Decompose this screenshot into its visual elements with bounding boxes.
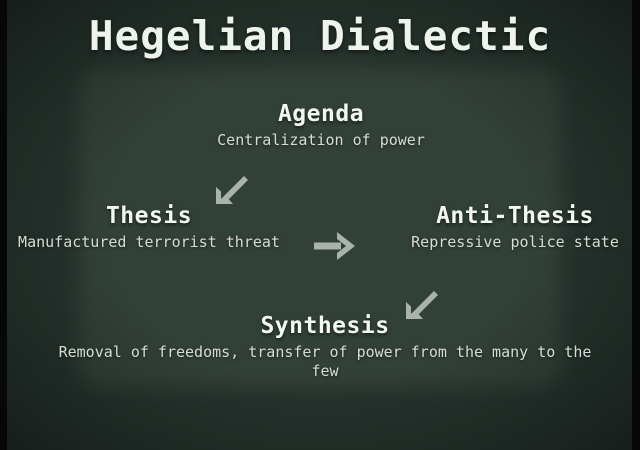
node-synthesis-heading: Synthesis (55, 314, 595, 340)
node-agenda: Agenda Centralization of power (178, 102, 464, 150)
node-antithesis-description: Repressive police state (390, 233, 640, 252)
arrow-down-left-icon-2 (400, 285, 440, 325)
arrow-down-left-icon (210, 170, 250, 210)
arrow-right-icon (312, 229, 358, 263)
node-antithesis-heading: Anti-Thesis (390, 204, 640, 230)
node-agenda-heading: Agenda (178, 102, 464, 128)
node-thesis-heading: Thesis (4, 204, 294, 230)
node-agenda-description: Centralization of power (178, 131, 464, 150)
slide-canvas: Hegelian Dialectic Agenda Centralization… (0, 0, 640, 450)
slide-content: Hegelian Dialectic Agenda Centralization… (0, 0, 640, 450)
node-antithesis: Anti-Thesis Repressive police state (390, 204, 640, 252)
node-synthesis: Synthesis Removal of freedoms, transfer … (55, 314, 595, 381)
node-synthesis-description: Removal of freedoms, transfer of power f… (55, 343, 595, 381)
page-title: Hegelian Dialectic (0, 12, 640, 60)
node-thesis-description: Manufactured terrorist threat (4, 233, 294, 252)
node-thesis: Thesis Manufactured terrorist threat (4, 204, 294, 252)
